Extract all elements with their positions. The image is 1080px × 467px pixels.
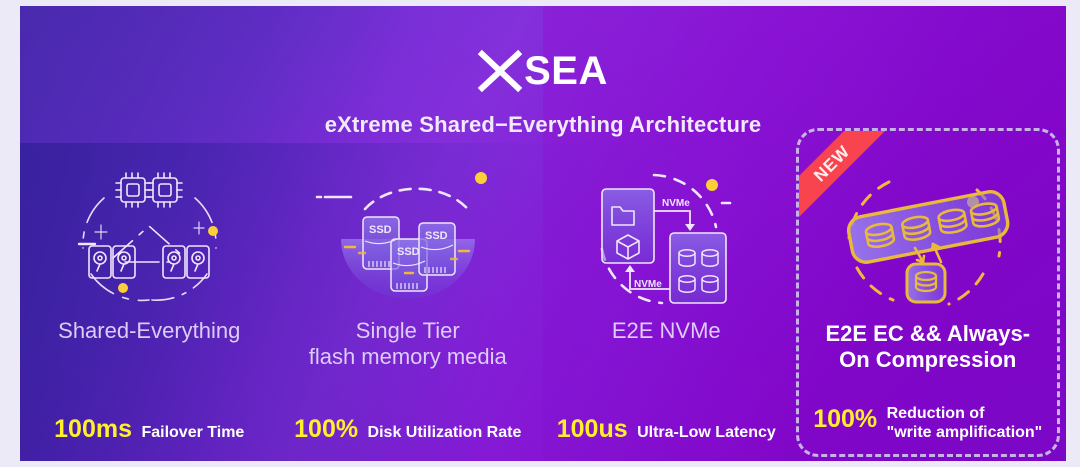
- nvme-label-top: NVMe: [662, 198, 690, 209]
- svg-text:SSD: SSD: [425, 230, 448, 242]
- cpu-disk-cluster-icon: [20, 156, 279, 316]
- metric-value: 100%: [294, 415, 358, 443]
- metric-value: 100us: [557, 415, 628, 443]
- feature-columns: Shared-Everything 100ms Failover Time: [20, 156, 1066, 456]
- feature-metric: 100% Disk Utilization Rate: [279, 415, 538, 444]
- metric-value: 100%: [813, 405, 877, 433]
- metric-label: Failover Time: [141, 424, 244, 441]
- feature-title: Single Tier flash memory media: [309, 318, 507, 374]
- feature-e2e-ec-compression[interactable]: NEW: [796, 128, 1061, 457]
- nvme-flow-icon: NVMe NVMe: [537, 156, 796, 316]
- x-mark-icon: [478, 50, 522, 92]
- screenshot-root: SEA eXtreme Shared−Everything Architectu…: [0, 0, 1080, 467]
- feature-metric: 100ms Failover Time: [20, 415, 279, 444]
- svg-text:SSD: SSD: [369, 224, 392, 236]
- feature-metric: 100% Reduction of "write amplification": [799, 404, 1058, 442]
- erasure-coding-compression-icon: [799, 159, 1058, 319]
- metric-label: Reduction of "write amplification": [887, 404, 1043, 442]
- metric-label: Disk Utilization Rate: [368, 424, 522, 441]
- xsea-architecture-banner: SEA eXtreme Shared−Everything Architectu…: [20, 6, 1066, 461]
- metric-label: Ultra-Low Latency: [637, 424, 776, 441]
- feature-single-tier-flash: SSD SSD SSD Single Tier flash memory med…: [279, 156, 538, 456]
- metric-value: 100ms: [54, 415, 132, 443]
- feature-shared-everything: Shared-Everything 100ms Failover Time: [20, 156, 279, 456]
- feature-e2e-nvme: NVMe NVMe E2E NVMe 100us Ultra-Low Laten…: [537, 156, 796, 456]
- brand-logo-text: SEA: [524, 51, 608, 91]
- feature-title: Shared-Everything: [58, 318, 240, 374]
- feature-title: E2E EC && Always- On Compression: [825, 321, 1030, 377]
- ssd-pool-icon: SSD SSD SSD: [279, 156, 538, 316]
- nvme-label-bottom: NVMe: [634, 279, 662, 290]
- feature-title: E2E NVMe: [612, 318, 721, 374]
- brand-logo: SEA: [20, 50, 1066, 98]
- feature-metric: 100us Ultra-Low Latency: [537, 415, 796, 444]
- svg-text:SSD: SSD: [397, 246, 420, 258]
